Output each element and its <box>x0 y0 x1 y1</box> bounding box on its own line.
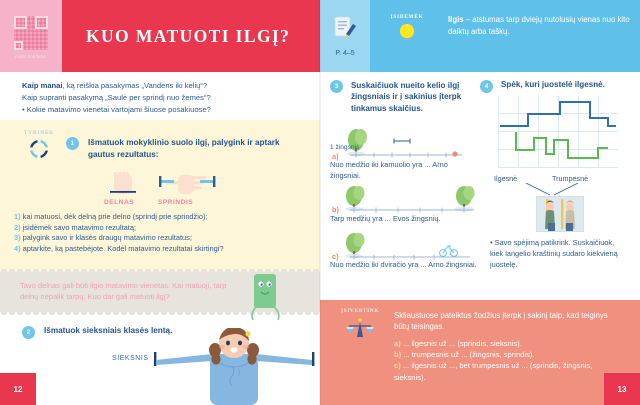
selfcheck-text: ... ilgesnis už ... (sprindis, sieksnis)… <box>401 339 522 348</box>
task-3-item-a-text: Nuo medžio iki kamuolio yra ... Arno žin… <box>330 160 480 181</box>
selfcheck-letter: a) <box>394 339 401 348</box>
task-4-bullet: • Savo spėjimą patikrink. Suskaičiuok, k… <box>490 238 620 270</box>
definition-text: Ilgis – atstumas tarp dviejų nutolusių v… <box>448 14 633 37</box>
selfcheck-letter: c) <box>394 361 401 370</box>
page-title: KUO MATUOTI ILGĮ? <box>86 26 290 47</box>
task-4-number: 4 <box>480 80 493 93</box>
task-1: 1 Išmatuok mokyklinio suolo ilgį, palygi… <box>66 137 293 160</box>
task-4: 4 Spėk, kuri juostelė ilgesnė. <box>480 80 633 93</box>
bulb-glass <box>400 24 414 38</box>
green-character-illustration <box>248 274 288 326</box>
step-number: 3) <box>14 233 21 242</box>
definition-band: ĮSIDĖMĖK Ilgis – atstumas tarp dviejų nu… <box>370 0 640 72</box>
strips-grid <box>498 96 618 168</box>
refresh-circle-icon <box>29 139 49 159</box>
step-item: 1) kai matuosi, dėk delną prie delno (sp… <box>14 212 314 223</box>
task-1-number: 1 <box>66 137 79 150</box>
bicycle-icon <box>440 246 458 256</box>
task-3-number: 3 <box>330 80 343 93</box>
right-page: P. 4–5 ĮSIDĖMĖK Ilgis – atstumas tarp dv… <box>320 0 640 405</box>
task-3-text: Suskaičiuok nueito kelio ilgį žingsniais… <box>351 80 469 114</box>
steps-list: 1) kai matuosi, dėk delną prie delno (sp… <box>14 212 314 254</box>
step-text: įsidėmėk savo matavimo rezultatą; <box>23 223 136 232</box>
caption-sprindis: SPRINDIS <box>158 199 193 206</box>
span-hand-icon <box>159 175 215 194</box>
qr-code-icon[interactable] <box>14 16 48 50</box>
label-ilgesne: Ilgesnė <box>494 174 517 183</box>
task-3-letter-b: b) <box>332 205 339 214</box>
bulb-base <box>404 38 411 41</box>
step-item: 3) palygink savo ir klasės draugų matavi… <box>14 233 314 244</box>
tree-ball-illustration-a <box>342 128 472 158</box>
intro-line-1: Kaip manai, ką reiškia pasakymas „Vanden… <box>22 80 304 92</box>
step-number: 4) <box>14 244 21 253</box>
qr-panel[interactable]: maks.link/bdxs <box>0 0 62 72</box>
definition-body: – atstumas tarp dviejų nutolusių vienas … <box>448 15 630 36</box>
step-number: 2) <box>14 223 21 232</box>
selfcheck-text: ... ilgesnis už ..., bet trumpesnis už .… <box>394 361 592 381</box>
document-pencil-icon <box>332 15 358 46</box>
remember-marker: ĮSIDĖMĖK <box>384 14 430 41</box>
selfcheck-items: a) ... ilgesnis už ... (sprindis, sieksn… <box>394 338 622 383</box>
reference-panel[interactable]: P. 4–5 <box>320 0 370 72</box>
chapter-title-band: KUO MATUOTI ILGĮ? <box>62 0 320 72</box>
blue-strip-path <box>500 102 616 126</box>
intro-line-1-rest: , ką reiškia pasakymas „Vandens iki keli… <box>63 81 208 90</box>
step-item: 2) įsidėmėk savo matavimo rezultatą; <box>14 223 314 234</box>
selfcheck-marker: ĮSIVERTINK <box>332 308 388 338</box>
caption-delnas: DELNAS <box>104 199 134 206</box>
step-item: 4) aptarkite, ką pastebėjote. Kodėl mata… <box>14 244 314 255</box>
caption-sieksnis: SIEKSNIS <box>112 355 149 362</box>
lightbulb-icon <box>400 24 414 41</box>
girl-arms-spread-illustration <box>152 328 320 405</box>
task-2: 2 Išmatuok sieksniais klasės lentą. <box>22 326 172 339</box>
task-3-item-c-text: Nuo medžio iki dviračio yra ... Arno žin… <box>330 260 485 271</box>
intro-line-2: Kaip supranti pasakymą „Saulė per sprind… <box>22 92 304 104</box>
step-number: 1) <box>14 212 21 221</box>
hand-measures-illustration: DELNAS SPRINDIS <box>96 172 236 212</box>
page-number-left: 12 <box>0 373 36 405</box>
palm-icon <box>110 172 136 194</box>
trees-illustration-b <box>342 185 482 213</box>
task-1-text: Išmatuok mokyklinio suolo ilgį, palygink… <box>88 137 293 160</box>
page-number-right: 13 <box>604 373 640 405</box>
task-4-text: Spėk, kuri juostelė ilgesnė. <box>501 80 633 93</box>
reference-label: P. 4–5 <box>335 50 354 57</box>
left-page: maks.link/bdxs KUO MATUOTI ILGĮ? Kaip ma… <box>0 0 320 405</box>
label-trumpesne: Trumpesnė <box>552 174 588 183</box>
definition-term: Ilgis <box>448 15 464 24</box>
explore-marker: TYRINĖK <box>14 130 64 159</box>
task-3-step-label: 1 žingsnis <box>330 143 359 154</box>
explore-label: TYRINĖK <box>14 130 64 136</box>
selfcheck-label: ĮSIVERTINK <box>332 308 388 314</box>
intro-line-3: • Kokie matavimo vienetai vartojami šiuo… <box>22 104 304 116</box>
selfcheck-item: b) ... trumpesnis už ... (žingsnis, spri… <box>394 349 622 360</box>
task-2-number: 2 <box>22 326 35 339</box>
intro-block: Kaip manai, ką reiškia pasakymas „Vanden… <box>0 72 320 120</box>
textbook-spread: maks.link/bdxs KUO MATUOTI ILGĮ? Kaip ma… <box>0 0 640 405</box>
qr-corner-icon <box>14 41 23 50</box>
task-3: 3 Suskaičiuok nueito kelio ilgį žingsnia… <box>330 80 469 114</box>
green-strip-path <box>516 132 608 158</box>
qr-label: maks.link/bdxs <box>15 54 47 59</box>
page-gutter <box>319 0 321 405</box>
strips-paths <box>498 96 618 168</box>
tree-bicycle-illustration-c <box>342 232 477 260</box>
selfcheck-item: c) ... ilgesnis už ..., bet trumpesnis u… <box>394 360 622 382</box>
selfcheck-item: a) ... ilgesnis už ... (sprindis, sieksn… <box>394 338 622 349</box>
step-text: aptarkite, ką pastebėjote. Kodėl matavim… <box>23 244 224 253</box>
intro-bold: Kaip manai <box>22 81 63 90</box>
task-3-item-b-text: Tarp medžių yra ... Evos žingsnių. <box>330 214 485 225</box>
remember-label: ĮSIDĖMĖK <box>384 14 430 20</box>
balance-scale-icon <box>345 318 375 338</box>
step-text: kai matuosi, dėk delną prie delno (sprin… <box>23 212 208 221</box>
selfcheck-intro: Skliaustuose pateiktus žodžius įterpk į … <box>394 310 622 333</box>
pointer-lines <box>524 183 580 197</box>
selfcheck-text: ... trumpesnis už ... (žingsnis, sprindi… <box>401 350 534 359</box>
step-text: palygink savo ir klasės draugų matavimo … <box>23 233 192 242</box>
children-measuring-photo <box>536 196 584 232</box>
